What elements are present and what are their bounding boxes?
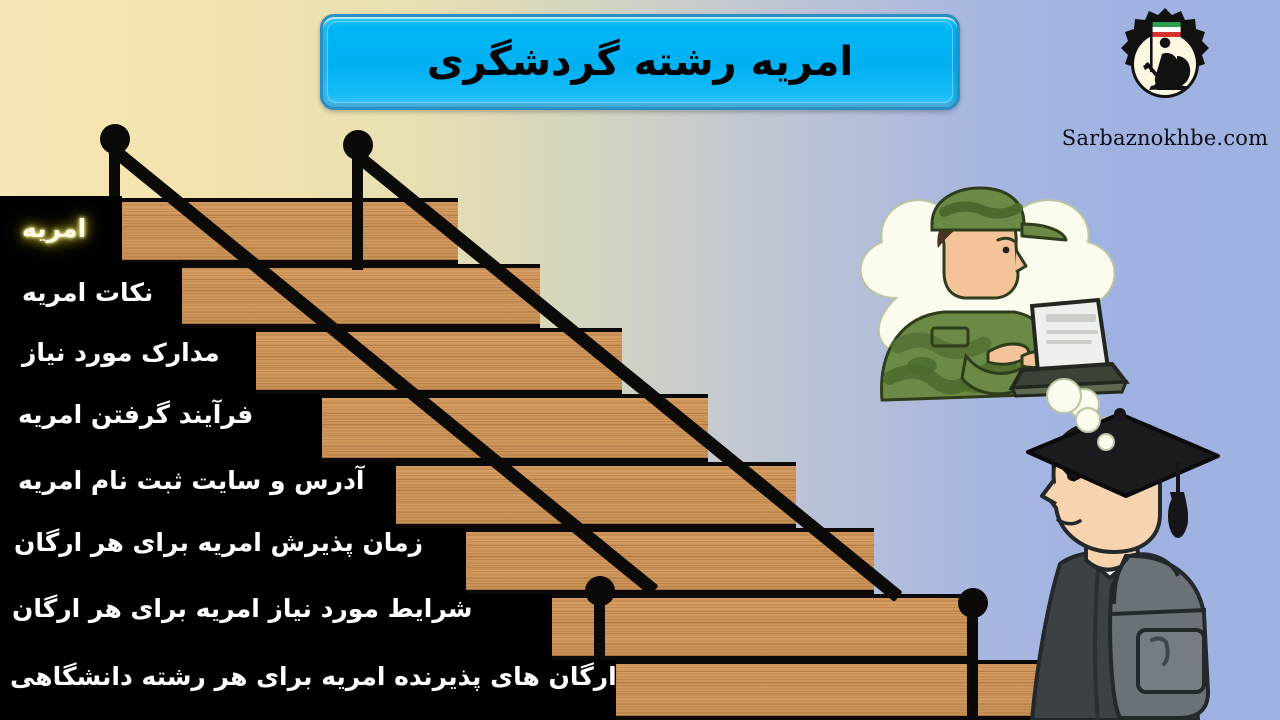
stair-step <box>318 394 708 462</box>
brand-logo[interactable]: Sarbaznokhbe.com <box>1060 4 1270 174</box>
menu-item-amriyeh[interactable]: امریه <box>22 214 86 243</box>
stair-step <box>118 198 458 264</box>
menu-item-adres-sabtnam[interactable]: آدرس و سایت ثبت نام امریه <box>18 466 364 495</box>
thought-trail <box>1018 368 1198 480</box>
stair-step <box>252 328 622 394</box>
menu-item-zaman-pazireh[interactable]: زمان پذیرش امریه برای هر ارگان <box>14 528 423 557</box>
stair-step <box>548 594 970 660</box>
page-title-button[interactable]: امریه رشته گردشگری <box>320 14 960 110</box>
menu-item-organha[interactable]: ارگان های پذیرنده امریه برای هر رشته دان… <box>10 662 617 691</box>
backpack-icon <box>1110 554 1208 718</box>
menu-item-sharayet[interactable]: شرایط مورد نیاز امریه برای هر ارگان <box>12 594 473 623</box>
menu-item-farayand[interactable]: فرآیند گرفتن امریه <box>18 400 253 429</box>
menu-item-nokat[interactable]: نکات امریه <box>22 278 153 307</box>
page-title: امریه رشته گردشگری <box>427 39 853 85</box>
poster-canvas: امریه نکات امریه مدارک مورد نیاز فرآیند … <box>0 0 1280 720</box>
railing-knob <box>585 576 615 606</box>
stair-step <box>462 528 874 594</box>
gear-soldier-flag-logo-icon <box>1105 4 1225 124</box>
menu-item-madarek[interactable]: مدارک مورد نیاز <box>22 338 220 367</box>
site-name: Sarbaznokhbe.com <box>1062 126 1268 150</box>
stair-step <box>178 264 540 328</box>
railing-knob <box>958 588 988 618</box>
